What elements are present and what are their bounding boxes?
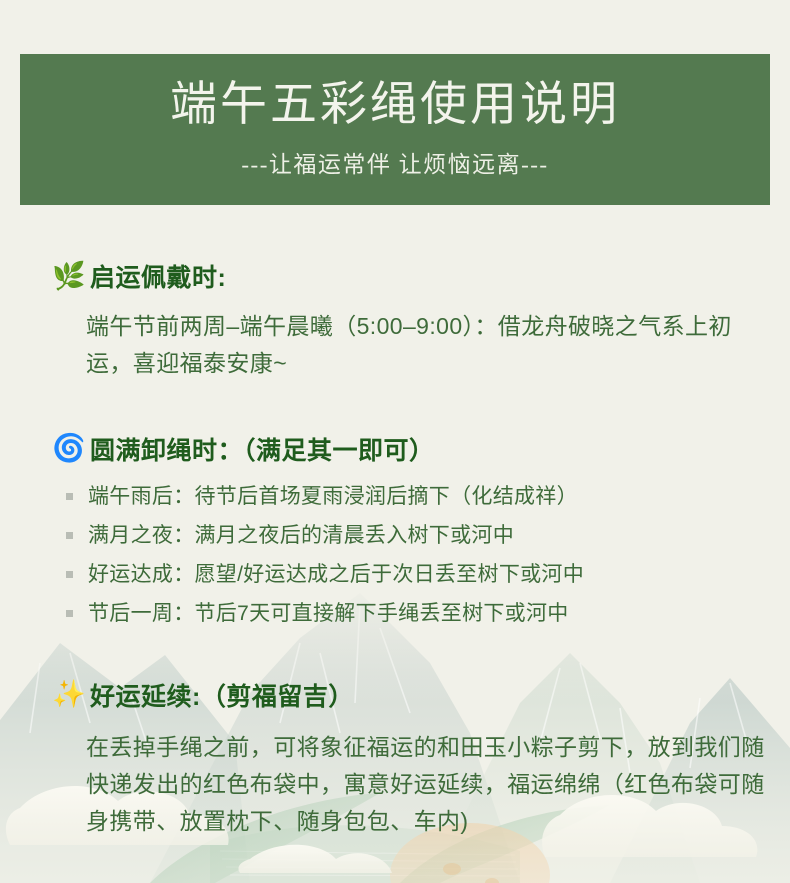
section-title-removal-time: 圆满卸绳时：（满足其一即可） [90, 431, 435, 467]
spiral-icon: 🌀 [52, 435, 90, 462]
section-header: 🌿 启运佩戴时: [0, 258, 790, 294]
content-area: 🌿 启运佩戴时: 端午节前两周–端午晨曦（5:00–9:00）：借龙舟破晓之气系… [0, 205, 790, 841]
section-wearing-time: 🌿 启运佩戴时: 端午节前两周–端午晨曦（5:00–9:00）：借龙舟破晓之气系… [0, 258, 790, 383]
section-body-text: 在丢掉手绳之前，可将象征福运的和田玉小粽子剪下，放到我们随快递发出的红色布袋中，… [86, 729, 768, 841]
header-banner: 端午五彩绳使用说明 ---让福运常伴 让烦恼远离--- [20, 54, 770, 205]
poster-page: 端午五彩绳使用说明 ---让福运常伴 让烦恼远离--- 🌿 启运佩戴时: 端午节… [0, 0, 790, 883]
section-body-text: 端午节前两周–端午晨曦（5:00–9:00）：借龙舟破晓之气系上初运，喜迎福泰安… [86, 308, 756, 383]
list-item: 端午雨后：待节后首场夏雨浸润后摘下（化结成祥） [66, 477, 766, 516]
list-item: 节后一周：节后7天可直接解下手绳丢至树下或河中 [66, 594, 766, 633]
sparkles-icon: ✨ [52, 681, 90, 708]
section-luck-continuation: ✨ 好运延续:（剪福留吉） 在丢掉手绳之前，可将象征福运的和田玉小粽子剪下，放到… [0, 677, 790, 841]
section-body-wearing-time: 端午节前两周–端午晨曦（5:00–9:00）：借龙舟破晓之气系上初运，喜迎福泰安… [0, 308, 790, 383]
section-body-luck-continuation: 在丢掉手绳之前，可将象征福运的和田玉小粽子剪下，放到我们随快递发出的红色布袋中，… [0, 729, 790, 841]
section-title-wearing-time: 启运佩戴时: [90, 258, 226, 294]
removal-conditions-list: 端午雨后：待节后首场夏雨浸润后摘下（化结成祥） 满月之夜：满月之夜后的清晨丢入树… [0, 477, 790, 633]
section-removal-time: 🌀 圆满卸绳时：（满足其一即可） 端午雨后：待节后首场夏雨浸润后摘下（化结成祥）… [0, 431, 790, 633]
list-item: 好运达成：愿望/好运达成之后于次日丢至树下或河中 [66, 555, 766, 594]
section-title-luck-continuation: 好运延续:（剪福留吉） [90, 677, 354, 713]
page-subtitle: ---让福运常伴 让烦恼远离--- [241, 145, 548, 179]
herb-leaf-icon: 🌿 [52, 263, 90, 290]
list-item: 满月之夜：满月之夜后的清晨丢入树下或河中 [66, 516, 766, 555]
section-header: ✨ 好运延续:（剪福留吉） [0, 677, 790, 713]
page-title: 端午五彩绳使用说明 [170, 80, 620, 131]
section-header: 🌀 圆满卸绳时：（满足其一即可） [0, 431, 790, 467]
